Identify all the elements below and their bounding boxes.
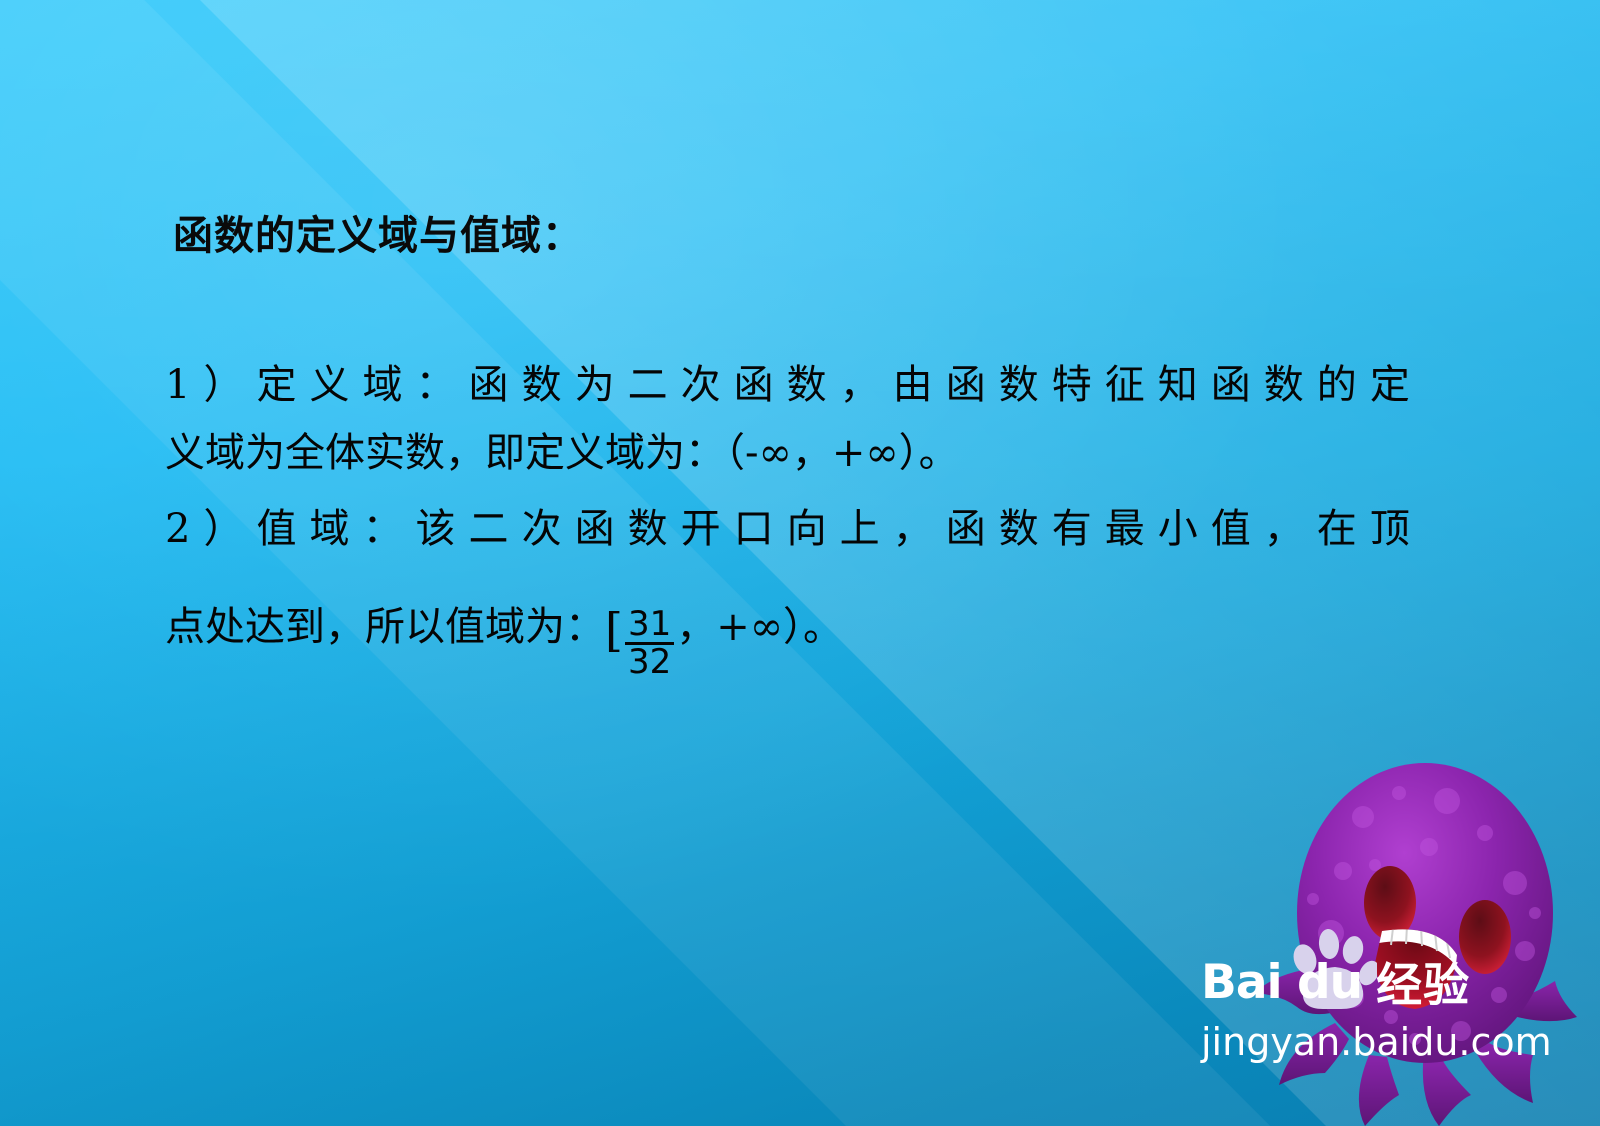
glyph: 函: [1211, 365, 1251, 405]
glyph: 函: [946, 509, 986, 549]
justified-line: 1）定义域：函数为二次函数，由函数特征知函数的定: [165, 365, 1410, 405]
glyph: 有: [1052, 509, 1092, 549]
glyph: 1: [165, 365, 190, 405]
justified-line: 2）值域：该二次函数开口向上，函数有最小值，在顶: [165, 509, 1410, 549]
fraction-denominator: 32: [625, 642, 674, 680]
range-line-suffix: ，+∞）。: [676, 607, 843, 679]
glyph: 定: [256, 365, 296, 405]
fraction-numerator: 31: [625, 607, 674, 642]
paragraph-domain-line2: 义域为全体实数，即定义域为：（-∞，+∞）。: [165, 433, 1410, 473]
glyph: ，: [893, 509, 933, 549]
paragraph-range-line2: 点处达到，所以值域为：[3132，+∞）。: [165, 607, 1410, 679]
baidu-wordmark: Bai du: [1201, 955, 1362, 1010]
glyph: 域: [363, 365, 403, 405]
glyph: 该: [416, 509, 456, 549]
slide-canvas: 函数的定义域与值域： 1）定义域：函数为二次函数，由函数特征知函数的定 义域为全…: [0, 0, 1600, 1126]
glyph: 数: [787, 365, 827, 405]
glyph: 二: [628, 365, 668, 405]
glyph: 数: [999, 365, 1039, 405]
fraction-31-over-32: 3132: [625, 607, 674, 679]
glyph: 值: [256, 509, 296, 549]
glyph: ）: [203, 365, 243, 405]
glyph: 2: [165, 509, 190, 549]
glyph: 二: [469, 509, 509, 549]
glyph: 最: [1105, 509, 1145, 549]
glyph: ）: [203, 509, 243, 549]
glyph: 上: [840, 509, 880, 549]
glyph: 数: [522, 365, 562, 405]
glyph: ，: [1264, 509, 1304, 549]
glyph: 向: [787, 509, 827, 549]
line-text: 义域为全体实数，即定义域为：（-∞，+∞）。: [165, 433, 959, 473]
watermark-url: jingyan.baidu.com: [1201, 1020, 1552, 1064]
glyph: 函: [946, 365, 986, 405]
glyph: 次: [522, 509, 562, 549]
glyph: 口: [734, 509, 774, 549]
interval-open-bracket: [: [605, 607, 623, 679]
glyph: 知: [1158, 365, 1198, 405]
glyph: 次: [681, 365, 721, 405]
glyph: 函: [734, 365, 774, 405]
glyph: 定: [1370, 365, 1410, 405]
range-line-prefix: 点处达到，所以值域为：: [165, 607, 605, 679]
glyph: 小: [1158, 509, 1198, 549]
glyph: ：: [416, 365, 456, 405]
glyph: 在: [1317, 509, 1357, 549]
octopus-mascot-icon: [1185, 755, 1600, 1126]
glyph: 的: [1317, 365, 1357, 405]
glyph: 由: [893, 365, 933, 405]
glyph: 值: [1211, 509, 1251, 549]
glyph: 函: [469, 365, 509, 405]
glyph: 域: [310, 509, 350, 549]
paragraph-range-line1: 2）值域：该二次函数开口向上，函数有最小值，在顶: [165, 509, 1410, 549]
jingyan-wordmark: 经验: [1376, 949, 1470, 1015]
glyph: 数: [1264, 365, 1304, 405]
baidu-logo: Bai du 经验: [1201, 951, 1470, 1013]
glyph: ：: [363, 509, 403, 549]
glyph: ，: [840, 365, 880, 405]
paragraph-domain-line1: 1）定义域：函数为二次函数，由函数特征知函数的定: [165, 365, 1410, 405]
glyph: 开: [681, 509, 721, 549]
glyph: 为: [575, 365, 615, 405]
slide-body: 1）定义域：函数为二次函数，由函数特征知函数的定 义域为全体实数，即定义域为：（…: [165, 365, 1410, 679]
octopus-head: [1297, 763, 1553, 1063]
glyph: 义: [310, 365, 350, 405]
glyph: 征: [1105, 365, 1145, 405]
glyph: 特: [1052, 365, 1092, 405]
glyph: 函: [575, 509, 615, 549]
glyph: 顶: [1370, 509, 1410, 549]
glyph: 数: [999, 509, 1039, 549]
glyph: 数: [628, 509, 668, 549]
page-title: 函数的定义域与值域：: [173, 203, 583, 261]
baidu-jingyan-watermark: Bai du 经验 jingyan.baidu.com: [1185, 755, 1600, 1126]
